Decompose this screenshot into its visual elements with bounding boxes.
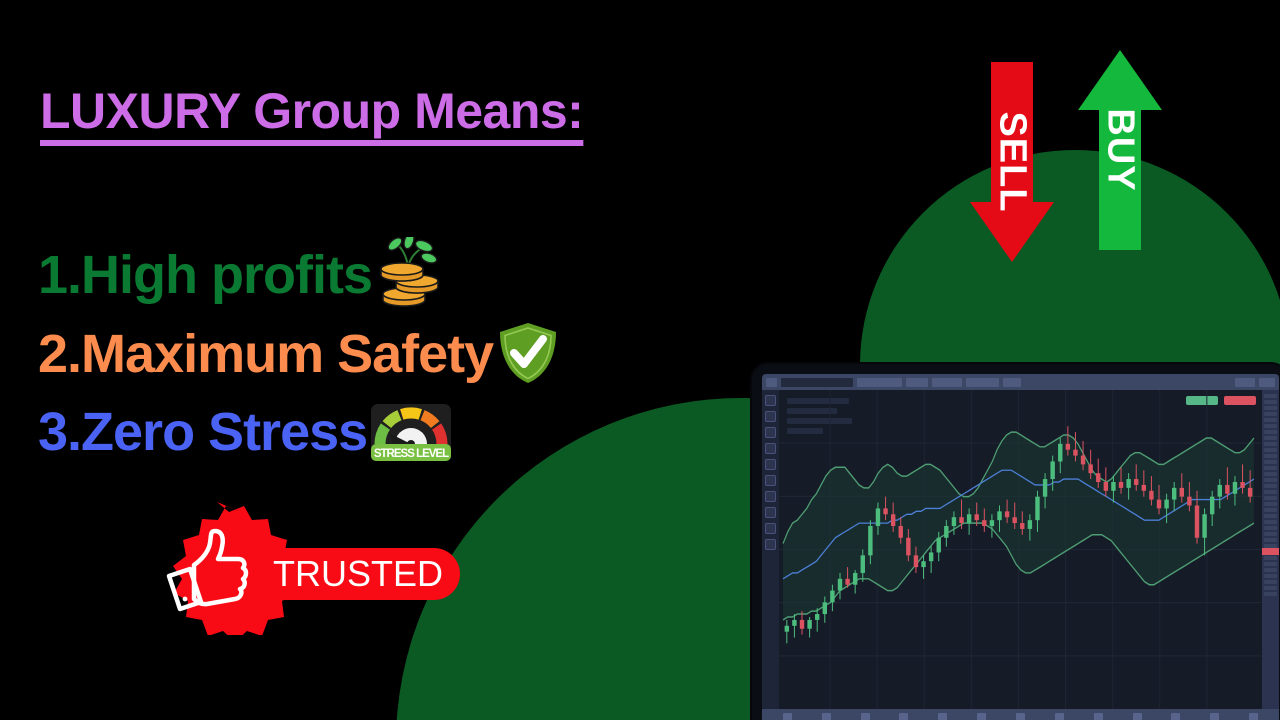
timeline-tick-button[interactable] xyxy=(1016,713,1025,720)
candle-body xyxy=(959,517,963,523)
price-axis-tick xyxy=(1264,568,1277,572)
candle-body xyxy=(1149,491,1153,500)
price-axis-tick xyxy=(1264,526,1277,530)
price-axis-tick xyxy=(1264,514,1277,518)
rail-button-text[interactable] xyxy=(765,459,776,470)
toolbar-alert-button[interactable] xyxy=(1003,378,1021,387)
candle-body xyxy=(1195,505,1199,537)
candle-body xyxy=(838,579,842,591)
candle-body xyxy=(1020,523,1024,529)
toolbar-chart-type-button[interactable] xyxy=(932,378,962,387)
price-axis-tick xyxy=(1264,484,1277,488)
timeline-tick-button[interactable] xyxy=(822,713,831,720)
stress-level-gauge-icon: STRESS LEVEL xyxy=(369,396,453,467)
price-axis-tick xyxy=(1264,454,1277,458)
rail-button-cursor[interactable] xyxy=(765,395,776,406)
candle-body xyxy=(1096,473,1100,482)
toolbar-indicator-button[interactable] xyxy=(906,378,928,387)
sell-arrow[interactable]: SELL xyxy=(970,62,1054,262)
price-axis-tick xyxy=(1264,406,1277,410)
candle-body xyxy=(1210,497,1214,515)
candle-body xyxy=(906,538,910,556)
candle-body xyxy=(891,514,895,526)
candle-body xyxy=(1164,500,1168,509)
rail-button-shapes[interactable] xyxy=(765,443,776,454)
benefit-label-3: 3.Zero Stress xyxy=(38,405,367,459)
candle-body xyxy=(823,602,827,614)
price-axis-tick xyxy=(1264,586,1277,590)
candle-body xyxy=(929,552,933,561)
timeline-tick-button[interactable] xyxy=(1249,713,1258,720)
candle-body xyxy=(1043,479,1047,497)
price-axis-tick xyxy=(1264,532,1277,536)
candle-body xyxy=(1225,485,1229,494)
timeline-tick-button[interactable] xyxy=(1094,713,1103,720)
price-axis-tick xyxy=(1264,496,1277,500)
candle-body xyxy=(785,626,789,632)
chart-canvas xyxy=(779,390,1262,709)
rail-button-trendline[interactable] xyxy=(765,411,776,422)
buy-arrow-shape xyxy=(1078,50,1162,250)
candle-body xyxy=(853,573,857,585)
marketing-copy-column: LUXURY Group Means: 1.High profits xyxy=(0,0,790,720)
candle-body xyxy=(1111,482,1115,491)
tablet-device xyxy=(752,364,1280,720)
rail-button-magnet[interactable] xyxy=(765,523,776,534)
price-axis[interactable] xyxy=(1262,390,1279,709)
benefit-label-1: 1.High profits xyxy=(38,248,372,302)
candle-body xyxy=(944,526,948,538)
candle-body xyxy=(1081,456,1085,465)
candle-body xyxy=(914,555,918,567)
candle-body xyxy=(792,620,796,626)
timeline-tick-button[interactable] xyxy=(861,713,870,720)
rail-button-fib[interactable] xyxy=(765,427,776,438)
toolbar-settings-button[interactable] xyxy=(1259,378,1275,387)
candle-body xyxy=(1126,479,1130,488)
buy-sell-signal-group: SELL BUY xyxy=(960,50,1190,285)
candle-body xyxy=(807,620,811,629)
candle-body xyxy=(1012,517,1016,523)
price-axis-tick xyxy=(1264,580,1277,584)
candle-body xyxy=(1187,497,1191,506)
price-axis-tick xyxy=(1264,466,1277,470)
candle-body xyxy=(1248,488,1252,497)
gauge-caption: STRESS LEVEL xyxy=(374,448,449,460)
price-axis-tick xyxy=(1264,592,1277,596)
candle-body xyxy=(1233,482,1237,494)
candle-body xyxy=(1119,482,1123,488)
candle-body xyxy=(1240,482,1244,488)
buy-arrow[interactable]: BUY xyxy=(1078,50,1162,250)
sell-arrow-shape xyxy=(970,62,1054,262)
benefit-item-maximum-safety: 2.Maximum Safety xyxy=(38,316,561,391)
money-plant-coins-icon xyxy=(374,235,442,314)
terminal-toolbar[interactable] xyxy=(762,374,1279,390)
price-axis-tick xyxy=(1264,442,1277,446)
price-axis-tick xyxy=(1264,556,1277,560)
candle-body xyxy=(1050,461,1054,479)
timeline-tick-button[interactable] xyxy=(1171,713,1180,720)
candle-body xyxy=(800,620,804,629)
timeline-tick-button[interactable] xyxy=(1133,713,1142,720)
price-axis-tick xyxy=(1264,412,1277,416)
toolbar-menu-button[interactable] xyxy=(766,378,777,387)
benefit-label-2: 2.Maximum Safety xyxy=(38,327,493,381)
price-axis-tick xyxy=(1264,520,1277,524)
candle-body xyxy=(815,614,819,620)
benefit-item-high-profits: 1.High profits xyxy=(38,235,442,314)
candle-body xyxy=(967,514,971,523)
price-axis-tick xyxy=(1264,430,1277,434)
timeline-tick-button[interactable] xyxy=(977,713,986,720)
terminal-tool-rail[interactable] xyxy=(762,390,779,709)
trusted-label: TRUSTED xyxy=(273,555,463,593)
price-axis-tick xyxy=(1264,436,1277,440)
timeline-tick-button[interactable] xyxy=(938,713,947,720)
green-shield-check-icon xyxy=(495,316,561,391)
candle-body xyxy=(883,508,887,514)
price-axis-tick xyxy=(1264,508,1277,512)
rail-button-patterns[interactable] xyxy=(765,475,776,486)
price-axis-tick xyxy=(1264,562,1277,566)
price-axis-tick xyxy=(1264,478,1277,482)
toolbar-symbol-field[interactable] xyxy=(781,378,853,387)
candle-body xyxy=(1028,520,1032,529)
candle-body xyxy=(1066,444,1070,450)
benefit-item-zero-stress: 3.Zero Stress STRESS LEVEL xyxy=(38,396,453,467)
candle-body xyxy=(1134,479,1138,485)
candle-body xyxy=(937,538,941,553)
current-price-marker xyxy=(1262,548,1279,555)
candle-body xyxy=(975,514,979,520)
candle-body xyxy=(1157,500,1161,509)
candle-body xyxy=(990,520,994,526)
price-axis-tick xyxy=(1264,448,1277,452)
price-axis-tick xyxy=(1264,538,1277,542)
timeline-tick-button[interactable] xyxy=(783,713,792,720)
candle-body xyxy=(982,520,986,526)
candle-body xyxy=(861,555,865,573)
candle-body xyxy=(1172,488,1176,500)
candle-body xyxy=(845,579,849,585)
rail-button-zoom[interactable] xyxy=(765,507,776,518)
toolbar-timeframe-button[interactable] xyxy=(857,378,902,387)
timeline-tick-button[interactable] xyxy=(899,713,908,720)
candle-body xyxy=(1088,464,1092,473)
candle-body xyxy=(1202,514,1206,537)
candle-body xyxy=(1104,482,1108,491)
price-axis-tick xyxy=(1264,424,1277,428)
trading-terminal xyxy=(762,374,1279,720)
price-axis-tick xyxy=(1264,460,1277,464)
price-axis-tick xyxy=(1264,490,1277,494)
candle-body xyxy=(868,526,872,555)
toolbar-compare-button[interactable] xyxy=(966,378,999,387)
candle-body xyxy=(1073,450,1077,456)
price-axis-tick xyxy=(1264,418,1277,422)
rail-button-measure[interactable] xyxy=(765,491,776,502)
trusted-badge[interactable]: TRUSTED xyxy=(125,500,460,635)
price-axis-tick xyxy=(1264,472,1277,476)
price-axis-tick xyxy=(1264,574,1277,578)
terminal-timeline-bar[interactable] xyxy=(762,709,1279,720)
timeline-tick-button[interactable] xyxy=(1210,713,1219,720)
price-chart[interactable] xyxy=(779,390,1262,709)
rail-button-lock[interactable] xyxy=(765,539,776,550)
candle-body xyxy=(997,511,1001,520)
price-axis-tick xyxy=(1264,394,1277,398)
timeline-tick-button[interactable] xyxy=(1055,713,1064,720)
candle-body xyxy=(1035,497,1039,520)
candle-body xyxy=(1180,488,1184,497)
price-axis-tick xyxy=(1264,502,1277,506)
candle-body xyxy=(830,591,834,603)
thumbs-up-icon xyxy=(161,525,253,617)
toolbar-save-button[interactable] xyxy=(1235,378,1255,387)
terminal-body xyxy=(762,390,1279,709)
candle-body xyxy=(876,508,880,526)
page-title: LUXURY Group Means: xyxy=(40,82,583,140)
candle-body xyxy=(952,517,956,526)
candle-body xyxy=(899,526,903,538)
candle-body xyxy=(921,561,925,567)
candle-body xyxy=(1142,485,1146,491)
candle-body xyxy=(1058,444,1062,462)
price-axis-tick xyxy=(1264,400,1277,404)
candle-body xyxy=(1005,511,1009,517)
candle-body xyxy=(1218,485,1222,497)
